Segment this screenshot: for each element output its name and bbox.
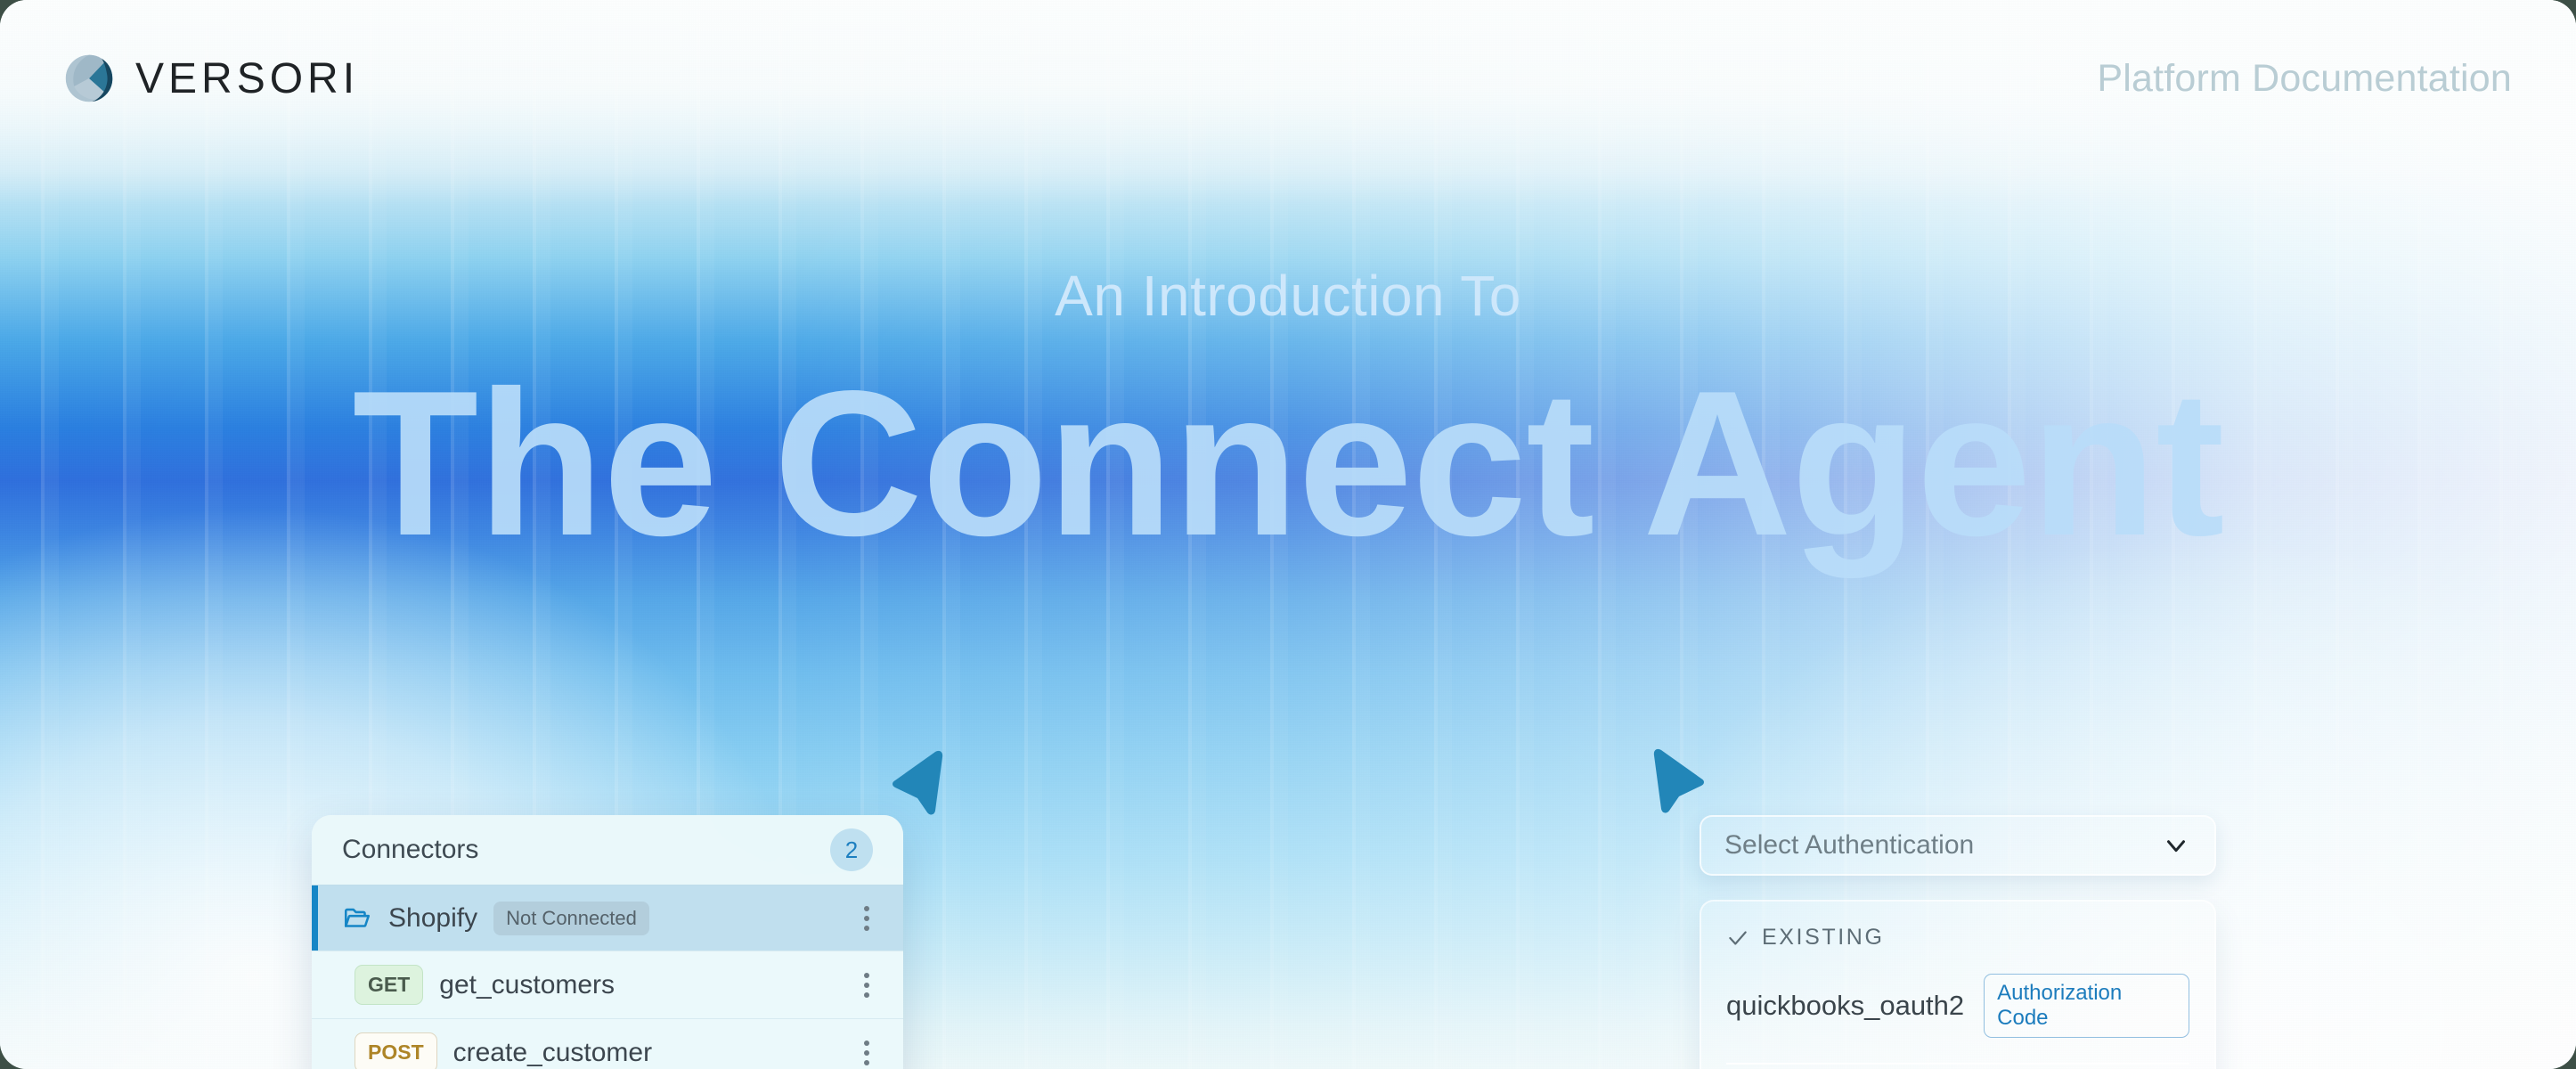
method-badge-post: POST bbox=[355, 1032, 437, 1069]
connector-row-shopify[interactable]: Shopify Not Connected bbox=[312, 885, 903, 951]
endpoint-row-get-customers[interactable]: GET get_customers bbox=[312, 951, 903, 1018]
brand-name: VERSORI bbox=[135, 54, 359, 103]
connector-status-badge: Not Connected bbox=[493, 902, 649, 935]
kebab-menu-icon[interactable] bbox=[857, 899, 876, 938]
endpoint-name: create_customer bbox=[453, 1038, 652, 1068]
kebab-menu-icon[interactable] bbox=[857, 966, 876, 1005]
authentication-entry-row[interactable]: quickbooks_oauth2 Authorization Code bbox=[1726, 974, 2189, 1038]
open-folder-icon bbox=[342, 903, 372, 934]
brand-logo[interactable]: VERSORI bbox=[64, 53, 359, 103]
existing-section-label: EXISTING bbox=[1762, 925, 1885, 951]
hero-title: The Connect Agent bbox=[0, 356, 2576, 571]
select-authentication-dropdown[interactable]: Select Authentication bbox=[1700, 815, 2216, 876]
cursor-left bbox=[891, 748, 953, 816]
method-badge-get: GET bbox=[355, 965, 423, 1005]
hero-eyebrow: An Introduction To bbox=[0, 267, 2576, 324]
select-authentication-placeholder: Select Authentication bbox=[1724, 830, 1974, 861]
authentication-card-spacer bbox=[1726, 1065, 2189, 1069]
chevron-down-icon bbox=[2161, 830, 2191, 861]
authentication-grant-type-tag: Authorization Code bbox=[1984, 974, 2189, 1038]
connectors-title: Connectors bbox=[342, 835, 478, 865]
hero-section: An Introduction To The Connect Agent bbox=[0, 267, 2576, 571]
cursor-arrow-right-icon bbox=[1643, 747, 1706, 814]
page-header: VERSORI Platform Documentation bbox=[64, 46, 2512, 110]
endpoint-name: get_customers bbox=[439, 970, 615, 1000]
check-icon bbox=[1726, 926, 1749, 950]
endpoint-row-create-customer[interactable]: POST create_customer bbox=[312, 1018, 903, 1069]
authentication-card: EXISTING quickbooks_oauth2 Authorization… bbox=[1700, 900, 2216, 1069]
versori-sphere-logo-icon bbox=[64, 53, 114, 103]
connector-name: Shopify bbox=[388, 903, 477, 934]
authentication-entry-name: quickbooks_oauth2 bbox=[1726, 990, 1964, 1022]
connectors-header: Connectors 2 bbox=[312, 815, 903, 885]
header-right-label: Platform Documentation bbox=[2097, 57, 2512, 101]
cursor-right bbox=[1643, 747, 1706, 814]
connectors-count-badge: 2 bbox=[830, 828, 873, 871]
cursor-arrow-left-icon bbox=[891, 748, 953, 816]
kebab-menu-icon[interactable] bbox=[857, 1033, 876, 1069]
page-stage: VERSORI Platform Documentation An Introd… bbox=[0, 0, 2576, 1069]
connectors-panel: Connectors 2 Shopify Not Connected GET g… bbox=[312, 815, 903, 1069]
existing-section-header: EXISTING bbox=[1726, 925, 2189, 951]
